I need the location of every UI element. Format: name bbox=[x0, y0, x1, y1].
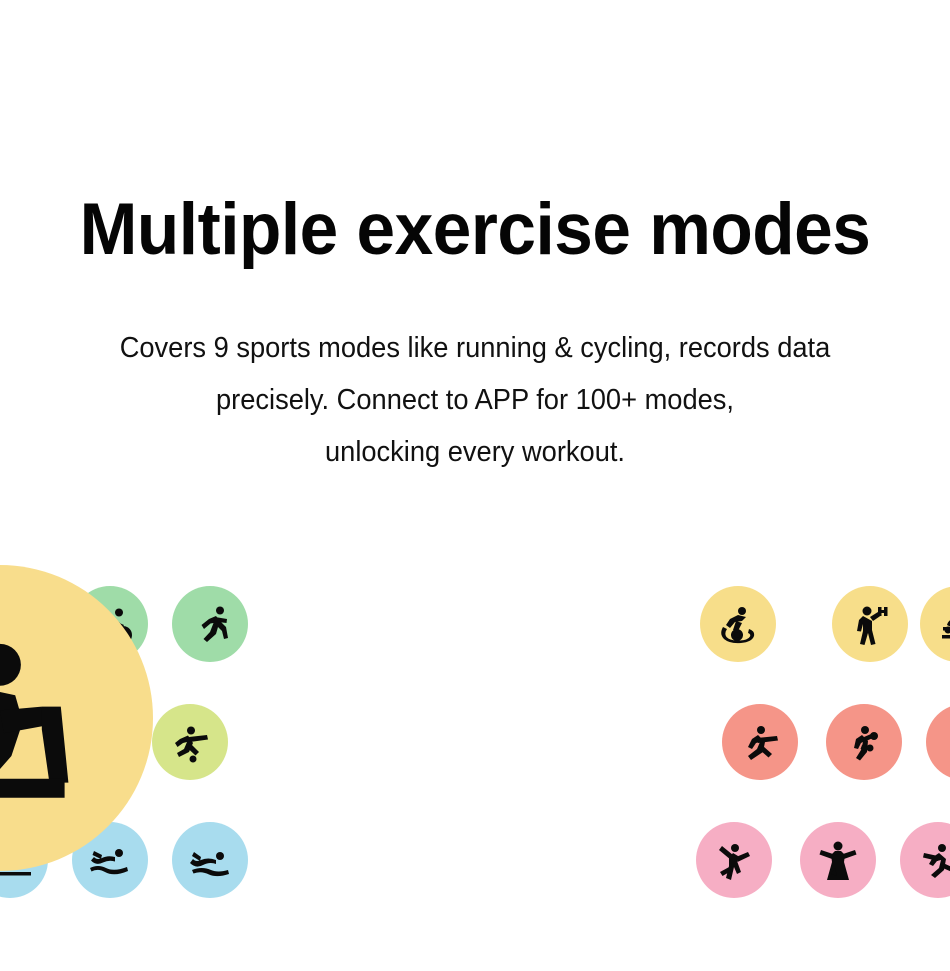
sport-mode-chip-running bbox=[172, 586, 248, 662]
swimming-icon bbox=[85, 835, 135, 885]
ballroom-dance-icon bbox=[813, 835, 863, 885]
treadmill-running-icon bbox=[0, 623, 95, 813]
description-line-1: Covers 9 sports modes like running & cyc… bbox=[29, 322, 922, 374]
soccer-icon bbox=[165, 717, 215, 767]
bench-press-icon bbox=[933, 599, 950, 649]
sport-mode-chip-soccer bbox=[152, 704, 228, 780]
dance-icon bbox=[709, 835, 759, 885]
sport-mode-chip-bench-press bbox=[920, 586, 950, 662]
yoga-icon bbox=[913, 835, 950, 885]
sport-mode-chip-ballroom-dance bbox=[800, 822, 876, 898]
sport-mode-chip-weightlifting bbox=[832, 586, 908, 662]
sport-mode-chip-freestyle-swim bbox=[172, 822, 248, 898]
boxing-icon bbox=[839, 717, 889, 767]
sport-mode-chip-dance bbox=[696, 822, 772, 898]
sport-mode-chip-spin-bike bbox=[700, 586, 776, 662]
running-icon bbox=[185, 599, 235, 649]
kickboxing-icon bbox=[939, 717, 950, 767]
sport-mode-chip-kickboxing bbox=[926, 704, 950, 780]
description-line-3: unlocking every workout. bbox=[29, 426, 922, 478]
promo-page: Multiple exercise modes Covers 9 sports … bbox=[0, 0, 950, 971]
page-title: Multiple exercise modes bbox=[24, 190, 927, 270]
freestyle-swim-icon bbox=[185, 835, 235, 885]
sport-mode-chip-martial-arts bbox=[722, 704, 798, 780]
sport-mode-chip-yoga bbox=[900, 822, 950, 898]
page-description: Covers 9 sports modes like running & cyc… bbox=[29, 322, 922, 478]
martial-arts-icon bbox=[735, 717, 785, 767]
sport-mode-chip-boxing bbox=[826, 704, 902, 780]
sport-mode-gallery bbox=[0, 556, 950, 971]
weightlifting-icon bbox=[845, 599, 895, 649]
spin-bike-icon bbox=[713, 599, 763, 649]
description-line-2: precisely. Connect to APP for 100+ modes… bbox=[29, 374, 922, 426]
